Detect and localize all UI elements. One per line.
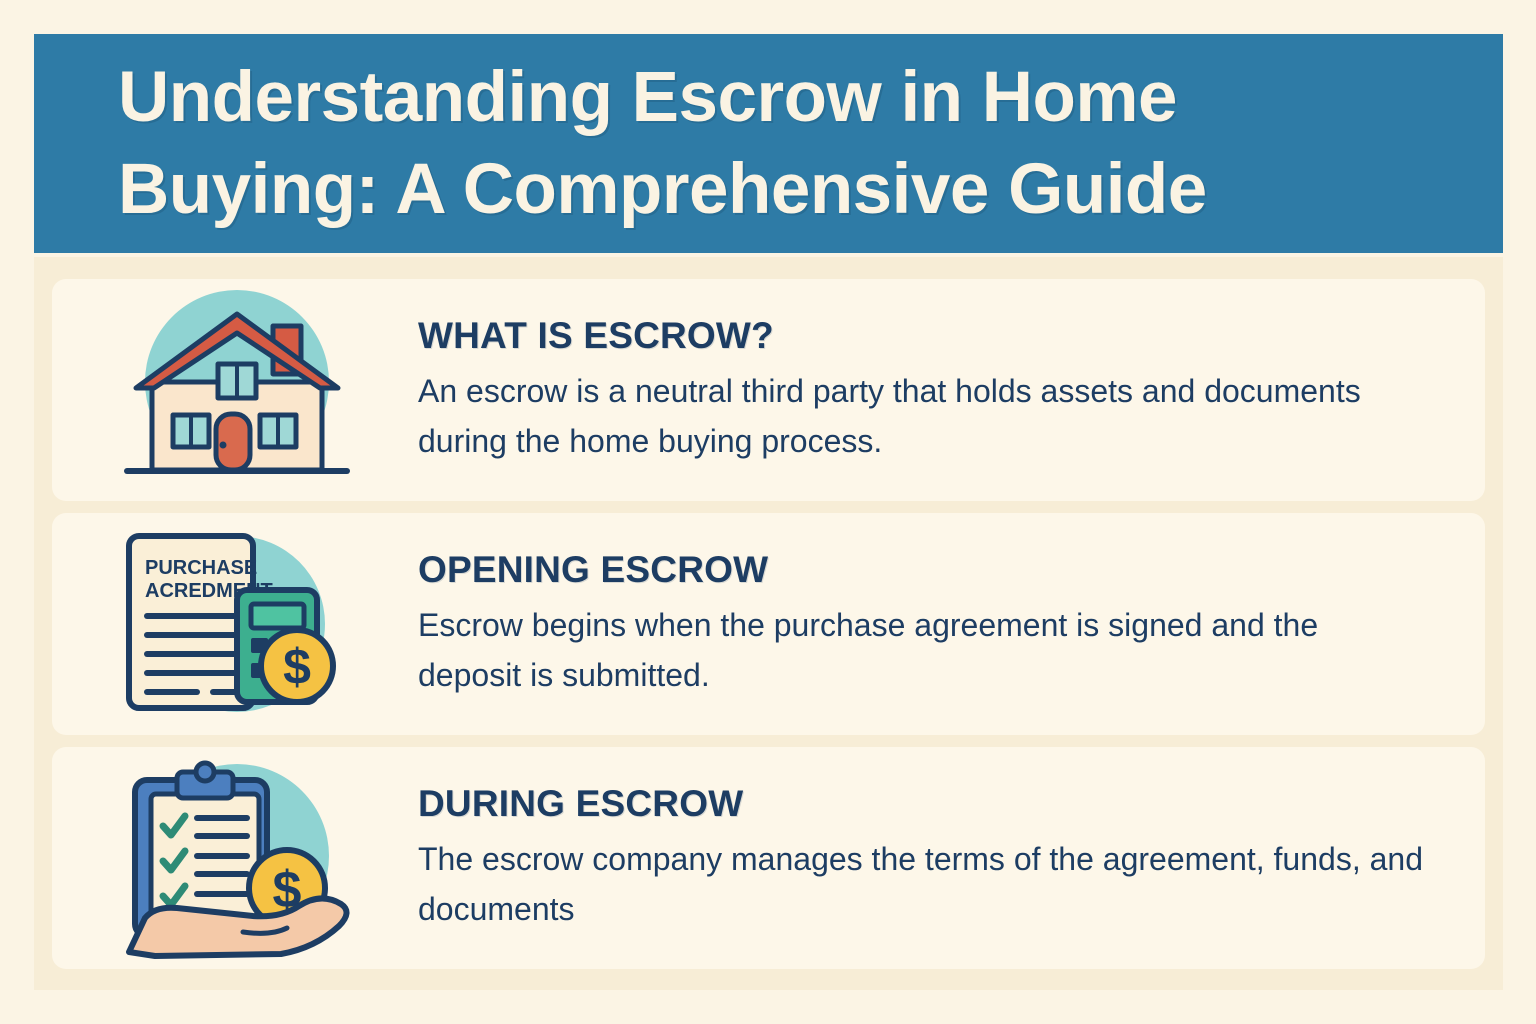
purchase-agreement-icon-container: PURCHASE ACREDMENT [70,519,400,729]
card-what-is-escrow: WHAT IS ESCROW? An escrow is a neutral t… [52,279,1485,501]
header-banner: Understanding Escrow in Home Buying: A C… [34,34,1503,253]
page-title-line-2: Buying: A Comprehensive Guide [118,144,1419,236]
card-body-text: An escrow is a neutral third party that … [418,366,1428,466]
house-icon [85,290,385,490]
page-title-line-1: Understanding Escrow in Home [118,58,1177,137]
card-opening-escrow: PURCHASE ACREDMENT [52,513,1485,735]
page-title: Understanding Escrow in Home Buying: A C… [118,52,1419,236]
purchase-agreement-calculator-icon: PURCHASE ACREDMENT [85,524,385,724]
document-label-line-1: PURCHASE [145,557,257,579]
card-during-escrow: $ DURING ESCROW The escrow company manag… [52,747,1485,969]
card-body-text: The escrow company manages the terms of … [418,834,1428,934]
card-text-what-is-escrow: WHAT IS ESCROW? An escrow is a neutral t… [400,314,1467,466]
card-body-text: Escrow begins when the purchase agreemen… [418,600,1428,700]
card-heading: DURING ESCROW [418,782,1447,826]
dollar-sign-glyph: $ [283,639,311,695]
clipboard-hand-coin-icon: $ [85,756,385,961]
house-icon-container [70,285,400,495]
clipboard-icon-container: $ [70,753,400,963]
content-panel: WHAT IS ESCROW? An escrow is a neutral t… [34,257,1503,990]
card-text-during-escrow: DURING ESCROW The escrow company manages… [400,782,1467,934]
card-text-opening-escrow: OPENING ESCROW Escrow begins when the pu… [400,548,1467,700]
infographic-root: Understanding Escrow in Home Buying: A C… [0,0,1536,1024]
card-list: WHAT IS ESCROW? An escrow is a neutral t… [52,279,1485,969]
card-heading: WHAT IS ESCROW? [418,314,1447,358]
card-heading: OPENING ESCROW [418,548,1447,592]
